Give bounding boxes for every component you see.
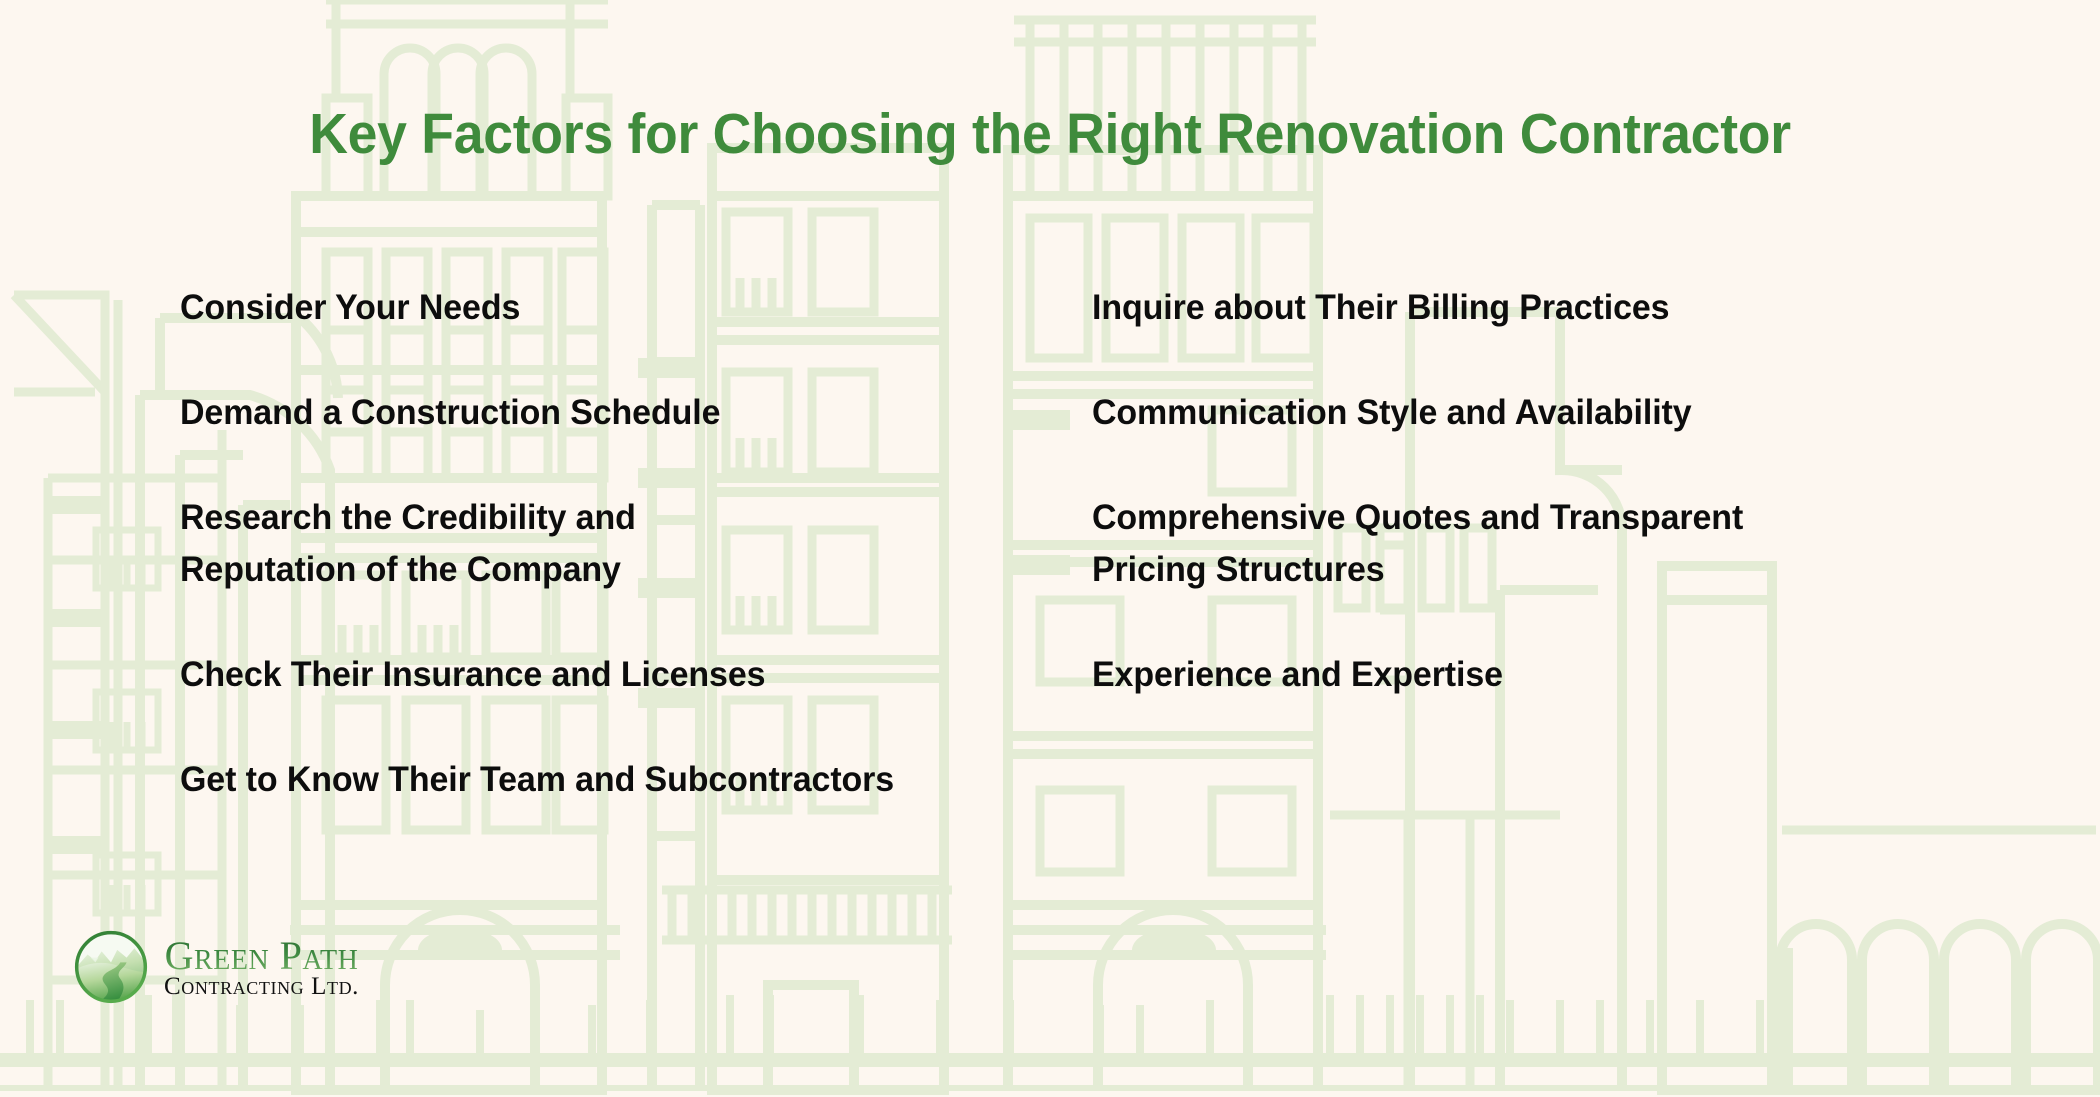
logo-company-subtitle: Contracting Ltd.	[164, 974, 359, 1000]
left-column: Consider Your Needs Demand a Constructio…	[180, 282, 1089, 806]
factor-item-right-2: Communication Style and Availability	[1092, 387, 1954, 439]
factor-item-left-5: Get to Know Their Team and Subcontractor…	[180, 754, 1042, 806]
factor-item-left-3: Research the Credibility and Reputation …	[180, 492, 801, 596]
infographic-canvas: Key Factors for Choosing the Right Renov…	[0, 0, 2100, 1097]
right-column: Inquire about Their Billing Practices Co…	[1089, 282, 1981, 806]
company-logo: Green Path Contracting Ltd.	[72, 928, 359, 1006]
factor-item-right-4: Experience and Expertise	[1092, 649, 1954, 701]
green-path-circle-emblem-icon	[72, 928, 150, 1006]
factor-columns: Consider Your Needs Demand a Constructio…	[180, 282, 1980, 806]
logo-company-name: Green Path	[165, 936, 359, 976]
factor-item-left-2: Demand a Construction Schedule	[180, 387, 1042, 439]
factor-item-right-3: Comprehensive Quotes and Transparent Pri…	[1092, 492, 1771, 596]
factor-item-left-1: Consider Your Needs	[180, 282, 1042, 334]
page-title: Key Factors for Choosing the Right Renov…	[63, 105, 2037, 165]
logo-wordmark: Green Path Contracting Ltd.	[164, 934, 359, 1000]
factor-item-left-4: Check Their Insurance and Licenses	[180, 649, 1042, 701]
factor-item-right-1: Inquire about Their Billing Practices	[1092, 282, 1954, 334]
